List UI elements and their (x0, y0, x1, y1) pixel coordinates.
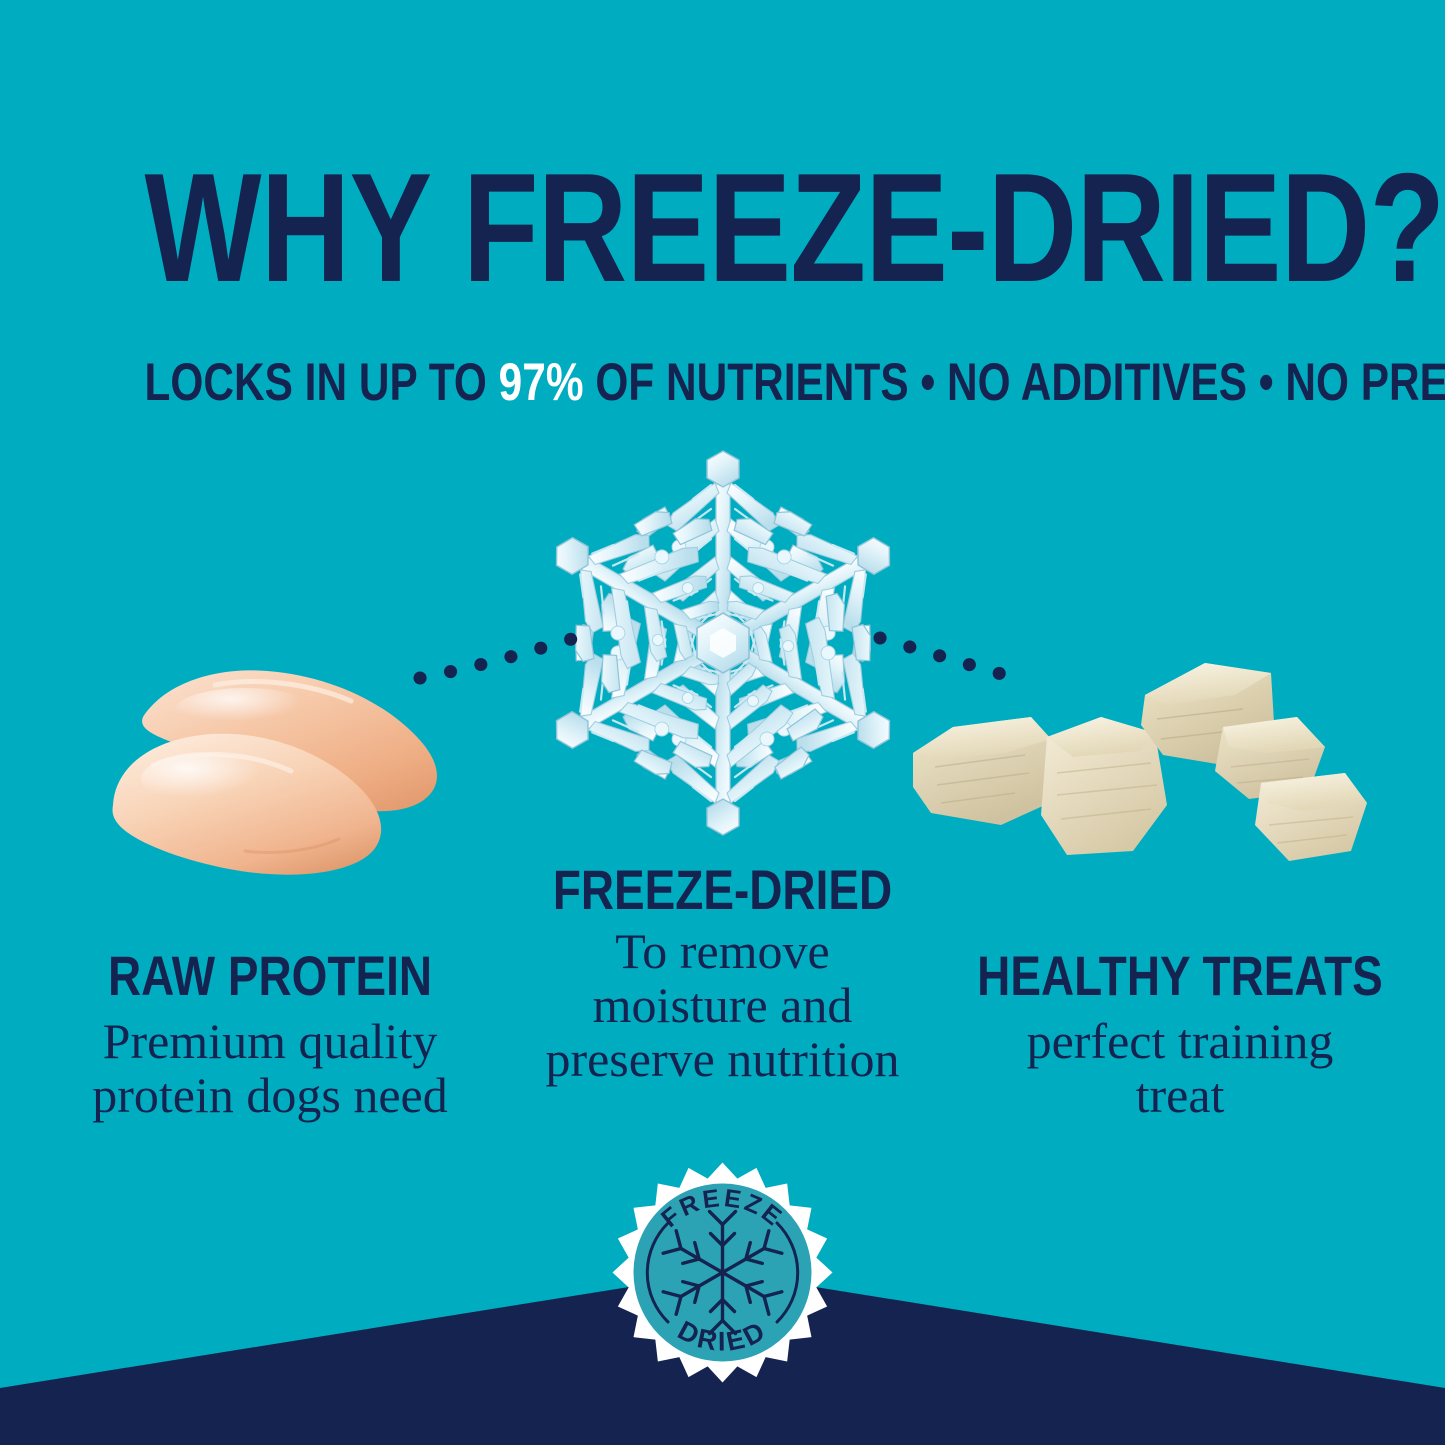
freeze-dried-seal-badge: FREEZE DRIED (610, 1160, 835, 1385)
column-heading-raw-protein: RAW PROTEIN (65, 948, 475, 1004)
nutrient-percent-badge: 97% (499, 353, 584, 412)
subtitle-after: OF NUTRIENTS • NO ADDITIVES • NO PRESERV… (584, 353, 1445, 412)
subtitle-before: LOCKS IN UP TO (145, 353, 499, 412)
column-heading-healthy-treats: HEALTHY TREATS (975, 948, 1385, 1004)
column-heading-freeze-dried: FREEZE-DRIED (515, 862, 929, 918)
column-freeze-dried: FREEZE-DRIED To remove moisture and pres… (470, 862, 975, 1086)
column-body-raw-protein: Premium quality protein dogs need (20, 1014, 520, 1122)
column-healthy-treats: HEALTHY TREATS perfect training treat (930, 948, 1430, 1122)
body-line: To remove (470, 924, 975, 978)
body-line: Premium quality (20, 1014, 520, 1068)
dotted-line-right-icon (880, 638, 1015, 678)
body-line: moisture and (470, 978, 975, 1032)
dotted-line-left-icon (420, 638, 575, 678)
body-line: treat (930, 1068, 1430, 1122)
dotted-connectors (0, 600, 1445, 780)
column-body-freeze-dried: To remove moisture and preserve nutritio… (470, 924, 975, 1086)
chunk-lower-right (1255, 773, 1367, 861)
infographic-canvas: WHY FREEZE-DRIED? LOCKS IN UP TO 97% OF … (0, 0, 1445, 1445)
page-title: WHY FREEZE-DRIED? (145, 150, 1301, 305)
body-line: preserve nutrition (470, 1032, 975, 1086)
subtitle-claims: LOCKS IN UP TO 97% OF NUTRIENTS • NO ADD… (145, 356, 1301, 409)
body-line: protein dogs need (20, 1068, 520, 1122)
column-raw-protein: RAW PROTEIN Premium quality protein dogs… (20, 948, 520, 1122)
body-line: perfect training (930, 1014, 1430, 1068)
column-body-healthy-treats: perfect training treat (930, 1014, 1430, 1122)
